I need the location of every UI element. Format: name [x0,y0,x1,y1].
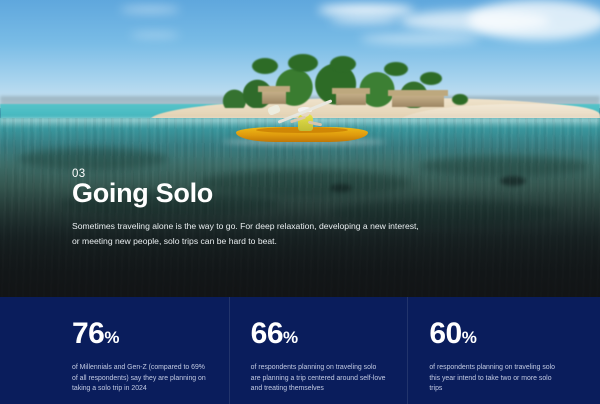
percent-sign: % [462,328,477,347]
stat-caption: of respondents planning on traveling sol… [429,363,566,395]
stat-number: 66 [251,317,283,350]
percent-sign: % [104,328,119,347]
stat-caption: of Millennials and Gen-Z (compared to 69… [72,363,209,395]
stat-block: 60% of respondents planning on traveling… [407,297,600,404]
stats-band: 76% of Millennials and Gen-Z (compared t… [0,297,600,404]
stat-number: 60 [429,317,461,350]
percent-sign: % [283,328,298,347]
stat-value: 76% [72,319,209,353]
stat-caption: of respondents planning on traveling sol… [251,363,388,395]
slide-root: 03 Going Solo Sometimes traveling alone … [0,0,600,404]
photo-scrim-overlay [0,0,600,297]
stat-block: 76% of Millennials and Gen-Z (compared t… [0,297,229,404]
page-title: Going Solo [72,178,213,209]
hero-photo [0,0,600,297]
stat-value: 60% [429,319,566,353]
stat-number: 76 [72,317,104,350]
stat-block: 66% of respondents planning on traveling… [229,297,408,404]
stat-value: 66% [251,319,388,353]
intro-paragraph: Sometimes traveling alone is the way to … [72,219,422,249]
